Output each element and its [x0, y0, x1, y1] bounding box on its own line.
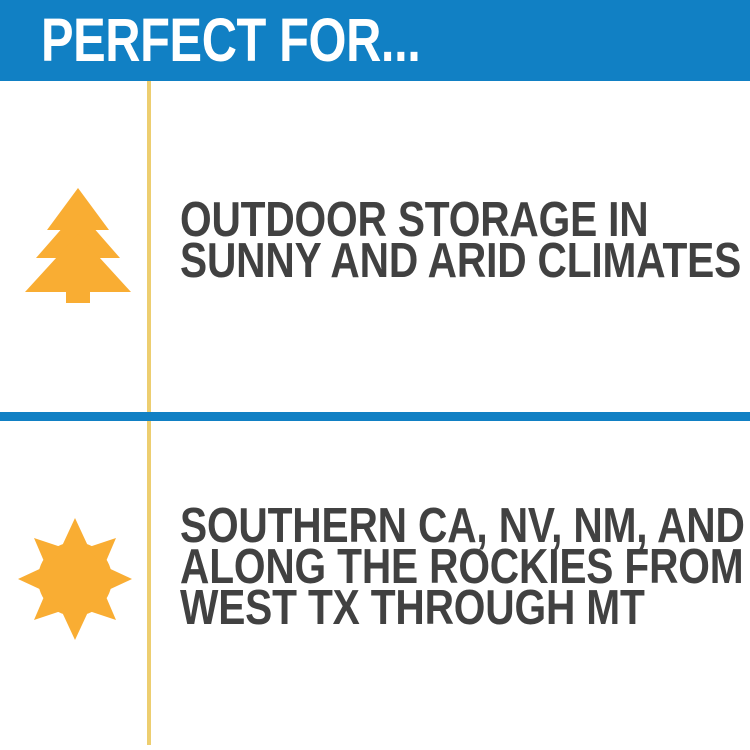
feature-line: SUNNY AND ARID CLIMATES	[180, 241, 741, 282]
feature-text-region: SOUTHERN CA, NV, NM, AND ALONG THE ROCKI…	[180, 506, 745, 629]
page-title: PERFECT FOR...	[41, 3, 420, 77]
perfect-for-infographic: PERFECT FOR... OUTDOOR STORAGE IN SUNNY …	[0, 0, 750, 750]
feature-text-outdoor: OUTDOOR STORAGE IN SUNNY AND ARID CLIMAT…	[180, 200, 741, 282]
header-bar: PERFECT FOR...	[0, 0, 750, 81]
horizontal-divider	[0, 412, 750, 421]
icon-cell-region	[0, 421, 147, 750]
text-cell-region: SOUTHERN CA, NV, NM, AND ALONG THE ROCKI…	[152, 421, 750, 750]
feature-row-outdoor: OUTDOOR STORAGE IN SUNNY AND ARID CLIMAT…	[0, 81, 750, 412]
feature-row-region: SOUTHERN CA, NV, NM, AND ALONG THE ROCKI…	[0, 421, 750, 750]
sun-icon	[18, 518, 132, 640]
feature-line: WEST TX THROUGH MT	[180, 588, 745, 629]
pine-tree-icon	[25, 188, 131, 303]
icon-cell-outdoor	[0, 81, 147, 412]
text-cell-outdoor: OUTDOOR STORAGE IN SUNNY AND ARID CLIMAT…	[152, 81, 750, 412]
